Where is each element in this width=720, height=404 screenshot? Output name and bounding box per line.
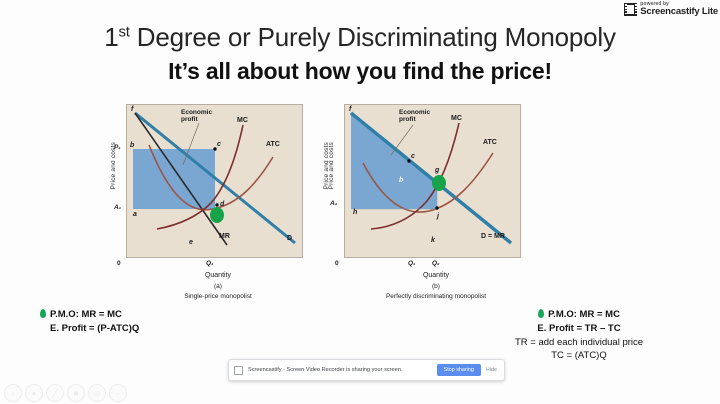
figure-b-ytick-a2: A₂ — [330, 200, 337, 207]
notes-right-line2: E. Profit = TR – TC — [537, 323, 620, 334]
figure-b-point-c: c — [411, 153, 415, 160]
figure-b-point-g: g — [435, 167, 439, 174]
screencastify-watermark: powered by Screencastify Lite — [624, 2, 718, 17]
figure-a-origin: 0 — [117, 260, 121, 267]
figure-a-ytick-p1: P₁ — [114, 144, 121, 151]
figure-b-atc-label: ATC — [483, 139, 497, 146]
notes-left-line1: P.M.O: MR = MC — [50, 308, 122, 322]
page-subtitle: It’s all about how you find the price! — [0, 58, 720, 85]
title-ordinal-suffix: st — [118, 23, 129, 40]
figure-b-origin: 0 — [335, 260, 339, 267]
figure-a-mr-label: MR — [219, 233, 230, 240]
figure-b-caption: Perfectly discriminating monopolist — [326, 293, 546, 300]
page-title: 1st Degree or Purely Discriminating Mono… — [0, 22, 720, 53]
notes-right-row-1: P.M.O: MR = MC — [448, 308, 710, 322]
figure-a-point-a: a — [133, 211, 137, 218]
figure-b-point-j: j — [437, 213, 439, 220]
figure-b-econ-line1: Economic — [399, 109, 430, 116]
minus-icon[interactable]: – — [109, 384, 127, 402]
figure-a: Price and costs Price and costs — [108, 100, 328, 300]
figure-b-xtick-q1: Q₁ — [408, 260, 415, 267]
slide-stage: powered by Screencastify Lite 1st Degree… — [0, 0, 720, 404]
back-icon[interactable]: ‹ — [4, 384, 22, 402]
figure-b-point-k: k — [431, 237, 435, 244]
share-message: Screencastify - Screen Video Recorder is… — [248, 367, 432, 373]
figure-b-panel-label: (b) — [326, 283, 546, 290]
title-ordinal-number: 1 — [104, 22, 118, 52]
figure-b-y-axis-label: Price and costs — [328, 142, 335, 189]
figure-a-point-b: b — [130, 142, 134, 149]
figure-a-point-e: e — [189, 239, 193, 246]
title-main-text: Degree or Purely Discriminating Monopoly — [137, 22, 616, 52]
notes-right-line3: TR = add each individual price — [515, 337, 643, 348]
figure-a-mc-label: MC — [237, 117, 248, 124]
figure-b-mc-label: MC — [451, 115, 462, 122]
notes-left-line2-wrap: E. Profit = (P-ATC)Q — [40, 322, 139, 336]
notes-left: P.M.O: MR = MC E. Profit = (P-ATC)Q — [40, 308, 139, 336]
zoom-icon[interactable]: ◎ — [88, 384, 106, 402]
figure-b-point-b: b — [399, 177, 403, 184]
stop-icon[interactable]: ■ — [67, 384, 85, 402]
hide-button[interactable]: Hide — [486, 367, 499, 373]
figure-a-curves — [127, 105, 302, 257]
recorder-toolbar[interactable]: ‹ ● ╱ ■ ◎ – — [4, 384, 127, 402]
figure-a-plot: f b c d a e Economic profit MC ATC MR D — [126, 104, 303, 258]
notes-left-line2: E. Profit = (P-ATC)Q — [50, 323, 139, 334]
notes-right-line3-wrap: TR = add each individual price — [448, 336, 710, 350]
figure-a-caption: Single-price monopolist — [108, 293, 328, 300]
figure-a-atc-label: ATC — [266, 141, 280, 148]
figure-a-demand-label: D — [287, 235, 292, 242]
green-bullet-icon — [40, 309, 46, 318]
figure-b-xtick-q2: Q₂ — [432, 260, 440, 267]
figure-a-x-axis-label: Quantity — [108, 272, 328, 279]
notes-right: P.M.O: MR = MC E. Profit = TR – TC TR = … — [448, 308, 710, 363]
notes-right-line2-wrap: E. Profit = TR – TC — [448, 322, 710, 336]
screen-share-notification-bar: Screencastify - Screen Video Recorder is… — [228, 359, 505, 381]
record-icon[interactable]: ● — [25, 384, 43, 402]
figure-a-point-f: f — [131, 106, 133, 113]
figure-b-econ-line2: profit — [399, 116, 416, 123]
stop-sharing-button[interactable]: Stop sharing — [437, 364, 481, 376]
green-bullet-icon — [538, 309, 544, 318]
pen-icon[interactable]: ╱ — [46, 384, 64, 402]
figure-a-ytick-a1: A₁ — [114, 204, 121, 211]
screen-share-icon — [234, 366, 243, 375]
figure-b-point-h: h — [353, 209, 357, 216]
figure-a-point-c: c — [217, 141, 221, 148]
figure-b: Price and costs — [326, 100, 546, 300]
notes-right-line4: TC = (ATC)Q — [551, 350, 607, 361]
figure-b-point-f: f — [349, 106, 351, 113]
figure-a-econ-line2: profit — [181, 116, 198, 123]
figure-b-economic-profit-label: Economic profit — [399, 109, 430, 124]
figure-a-economic-profit-label: Economic profit — [181, 109, 212, 124]
notes-right-line1: P.M.O: MR = MC — [548, 308, 620, 322]
notes-left-row-1: P.M.O: MR = MC — [40, 308, 139, 322]
figure-b-demand-mr-label: D = MR — [481, 233, 505, 240]
figure-b-plot: f c g h j k b Economic profit MC ATC D =… — [344, 104, 521, 258]
screencastify-product-label: Screencastify Lite — [640, 7, 718, 17]
film-strip-icon — [624, 3, 637, 16]
figure-a-econ-line1: Economic — [181, 109, 212, 116]
figure-a-panel-label: (a) — [108, 283, 328, 290]
figure-a-xtick-q1: Q₁ — [206, 260, 213, 267]
figure-a-point-d: d — [220, 201, 224, 208]
figure-b-x-axis-label: Quantity — [326, 272, 546, 279]
